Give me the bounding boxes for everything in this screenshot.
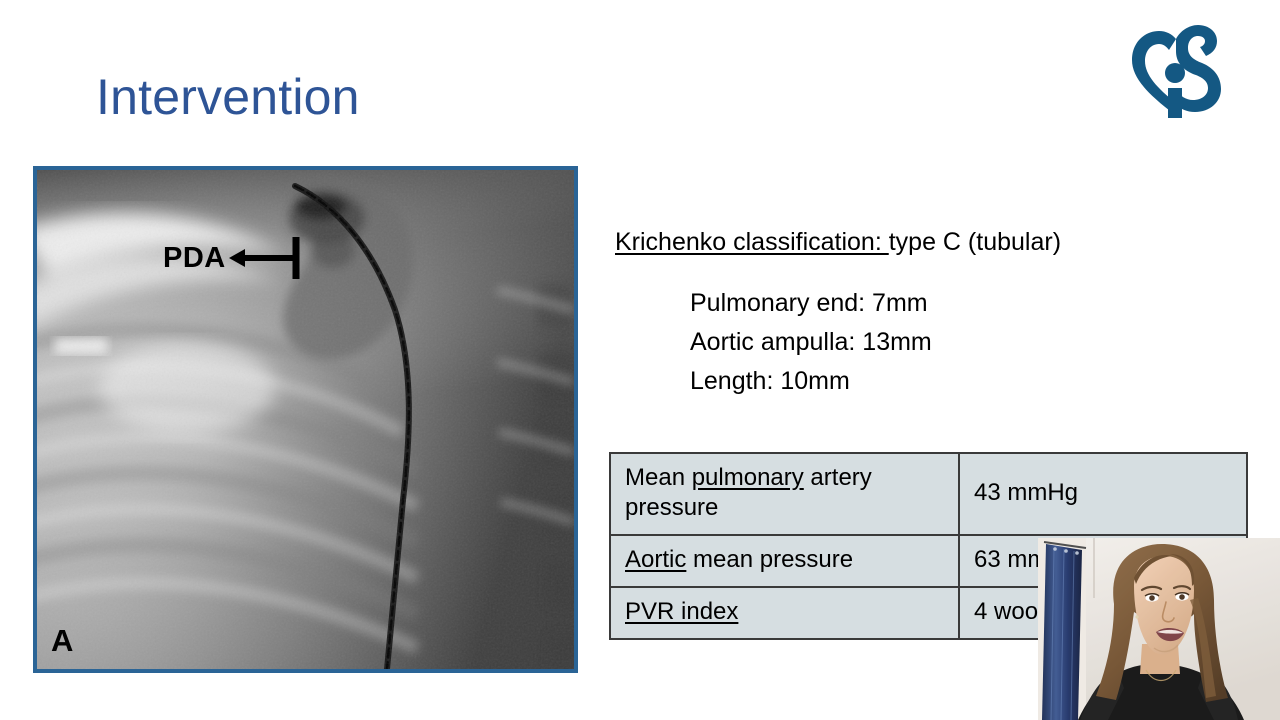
- table-cell-label: Aortic mean pressure: [610, 535, 959, 587]
- label-text-underlined: pulmonary: [692, 464, 804, 491]
- classification-value: type C (tubular): [889, 228, 1061, 256]
- cardiac-institute-logo: [1128, 18, 1224, 122]
- measurement-item: Length: 10mm: [690, 362, 932, 401]
- table-row: Mean pulmonary artery pressure 43 mmHg: [610, 453, 1247, 535]
- angiogram-figure: PDA A: [33, 166, 578, 673]
- table-cell-label: PVR index: [610, 587, 959, 639]
- label-text-before: Mean: [625, 464, 692, 491]
- presenter-webcam[interactable]: [1038, 538, 1280, 720]
- page-title: Intervention: [96, 70, 360, 125]
- measurement-item: Pulmonary end: 7mm: [690, 284, 932, 323]
- table-cell-value: 43 mmHg: [959, 453, 1247, 535]
- presentation-slide: Intervention: [0, 0, 1280, 720]
- classification-label: Krichenko classification:: [615, 228, 889, 256]
- figure-panel-letter: A: [51, 623, 73, 659]
- angiogram-xray-image: [37, 170, 574, 669]
- measurements-list: Pulmonary end: 7mm Aortic ampulla: 13mm …: [690, 284, 932, 401]
- measurement-item: Aortic ampulla: 13mm: [690, 323, 932, 362]
- label-text-underlined: Aortic: [625, 546, 686, 573]
- webcam-video-frame: [1038, 538, 1280, 720]
- krichenko-classification-line: Krichenko classification: type C (tubula…: [615, 228, 1061, 257]
- label-text-after: mean pressure: [686, 546, 853, 573]
- label-text-underlined: PVR index: [625, 598, 738, 625]
- table-cell-label: Mean pulmonary artery pressure: [610, 453, 959, 535]
